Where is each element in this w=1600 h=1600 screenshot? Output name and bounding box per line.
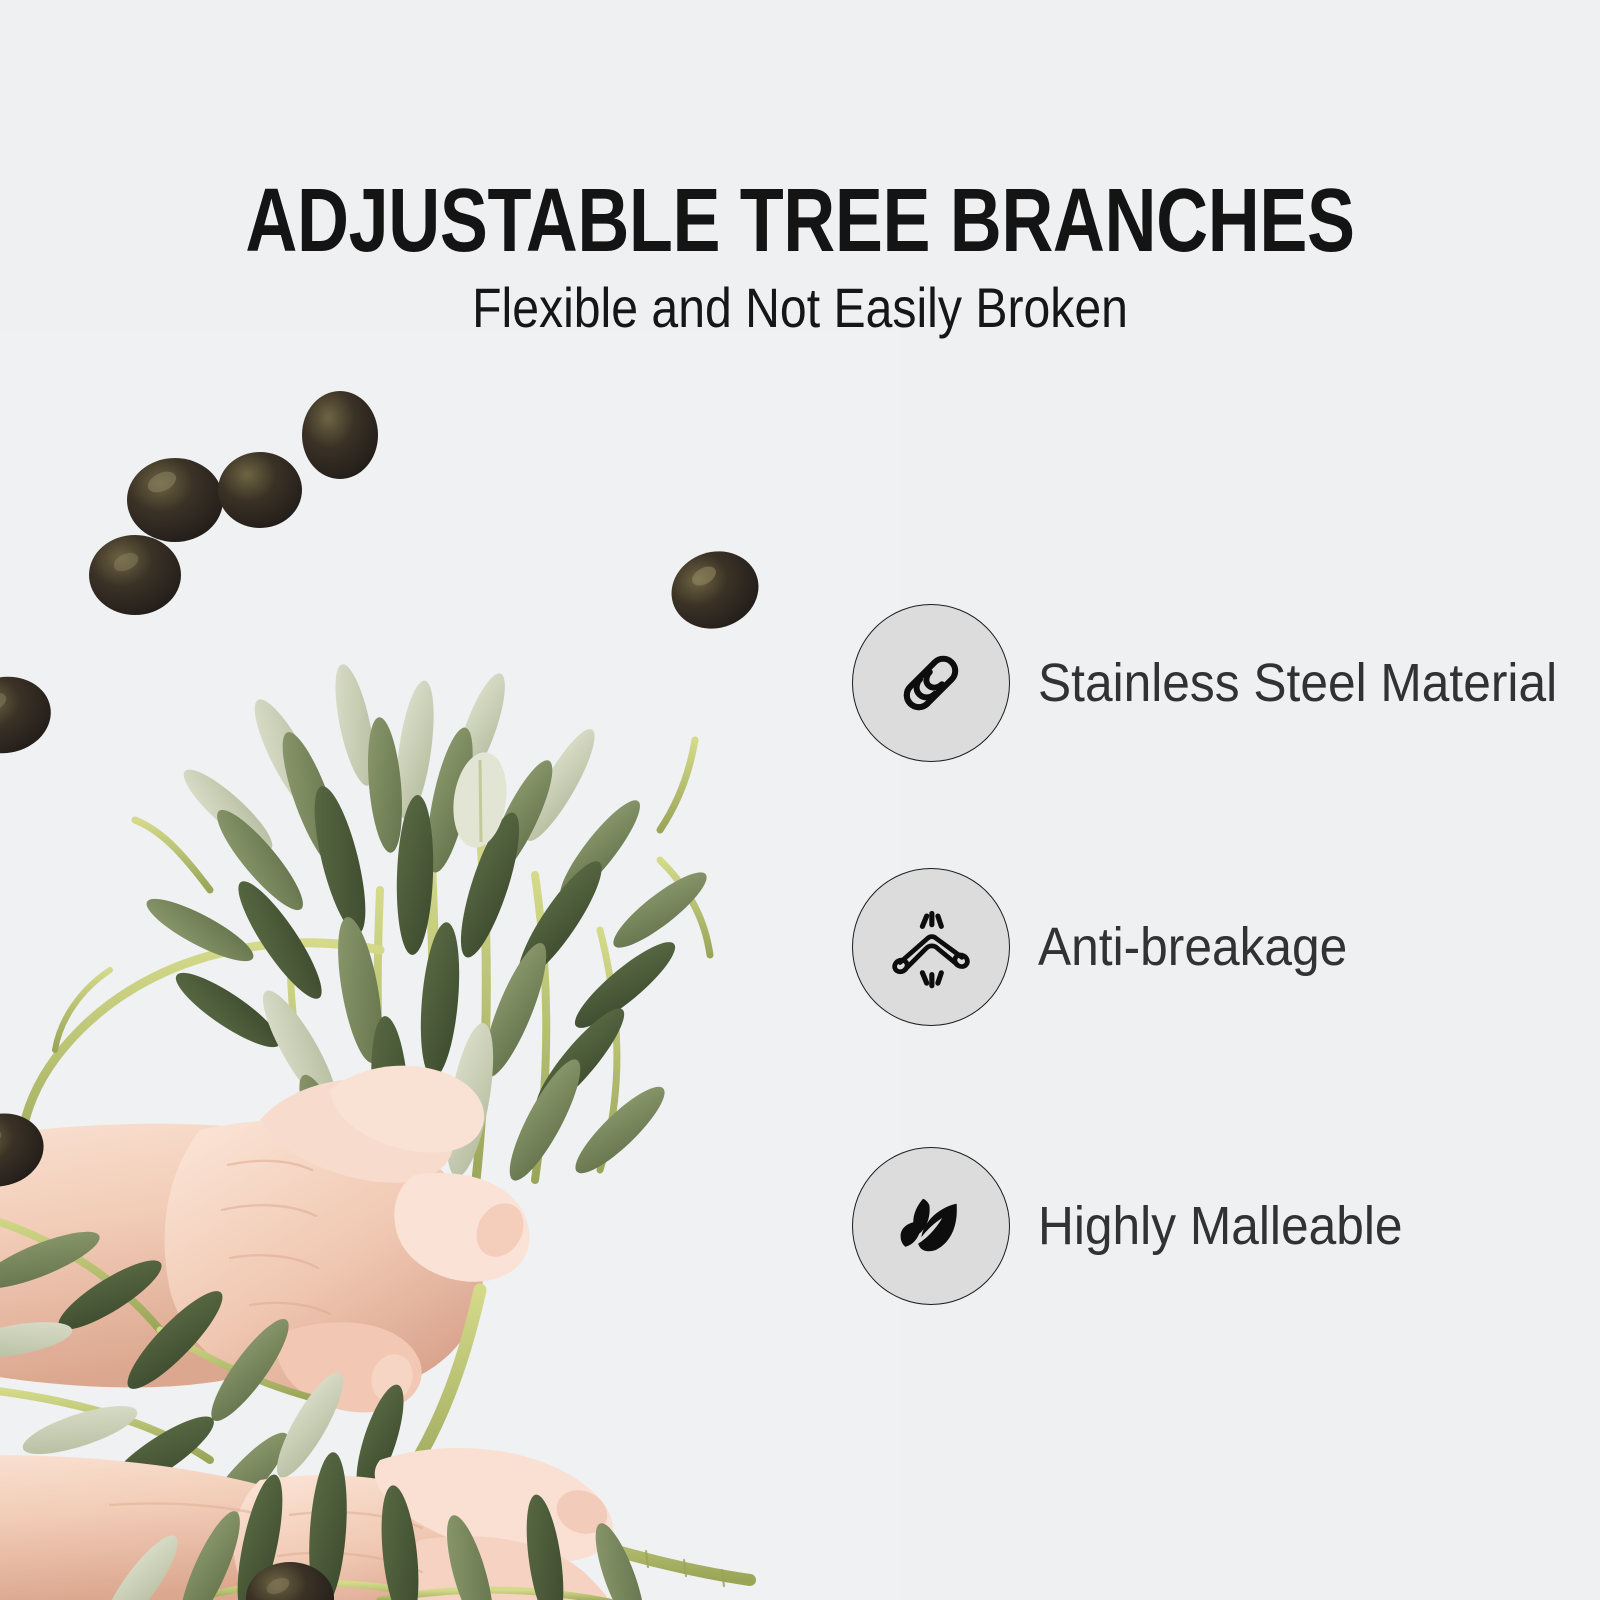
product-photo (0, 330, 900, 1600)
feature-label-stainless-steel: Stainless Steel Material (1038, 653, 1557, 713)
feature-label-anti-breakage: Anti-breakage (1038, 917, 1347, 977)
bent-rod-icon (852, 868, 1010, 1026)
feature-list: Stainless Steel Material (852, 0, 1552, 1600)
infographic-canvas: ADJUSTABLE TREE BRANCHES Flexible and No… (0, 0, 1600, 1600)
steel-rod-icon (852, 604, 1010, 762)
leaves-icon (852, 1147, 1010, 1305)
feature-item-anti-breakage[interactable]: Anti-breakage (852, 868, 1374, 1026)
feature-label-highly-malleable: Highly Malleable (1038, 1196, 1403, 1256)
feature-item-highly-malleable[interactable]: Highly Malleable (852, 1147, 1434, 1305)
feature-item-stainless-steel[interactable]: Stainless Steel Material (852, 604, 1600, 762)
